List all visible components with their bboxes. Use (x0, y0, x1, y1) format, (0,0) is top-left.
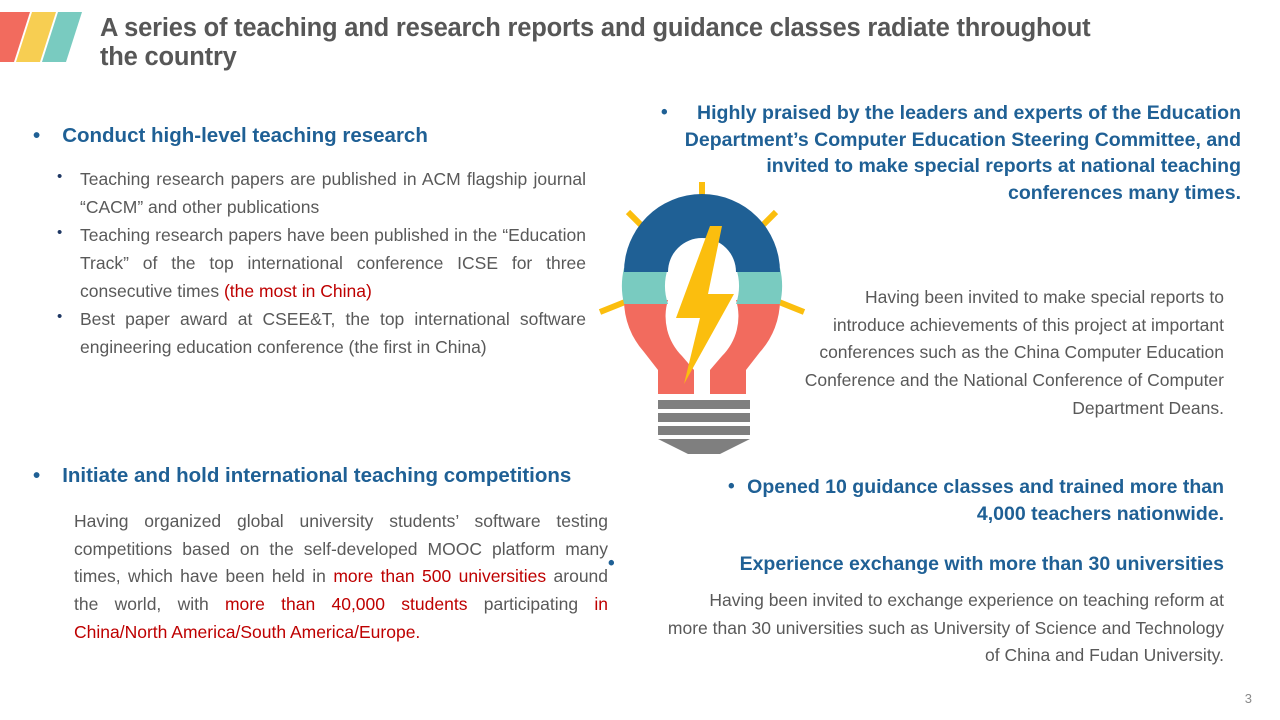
paragraph-text-normal: participating (467, 594, 594, 614)
lightbulb-illustration-icon (598, 172, 810, 454)
bullet-icon: • (33, 124, 40, 149)
list-item-text-normal: Best paper award at CSEE&T, the top inte… (80, 309, 586, 357)
bulb-base-icon (658, 400, 750, 454)
page-title: A series of teaching and research report… (100, 14, 1110, 72)
list-item: Teaching research papers are published i… (50, 166, 586, 221)
page-number: 3 (1245, 691, 1252, 706)
list-item: Teaching research papers have been publi… (50, 222, 586, 305)
bullet-icon: • (661, 100, 668, 126)
bullet-icon: • (608, 552, 615, 577)
right-paragraph-exchange: Having been invited to exchange experien… (666, 587, 1224, 670)
left-heading-conduct-research: •Conduct high-level teaching research (33, 124, 428, 149)
left-heading-competitions: •Initiate and hold international teachin… (33, 464, 571, 489)
left-heading-1-label: Conduct high-level teaching research (62, 124, 428, 147)
left-heading-2-label: Initiate and hold international teaching… (62, 464, 571, 487)
bulb-teal-left-segment (622, 268, 668, 304)
left-paragraph-competitions: Having organized global university stude… (74, 508, 608, 646)
right-heading-praised: •Highly praised by the leaders and exper… (655, 100, 1241, 206)
list-item-text-normal: Teaching research papers are published i… (80, 169, 586, 217)
right-heading-3-label: Experience exchange with more than 30 un… (740, 553, 1224, 575)
list-item-text-highlight: (the most in China) (224, 281, 372, 301)
right-heading-1-label: Highly praised by the leaders and expert… (685, 102, 1241, 204)
bulb-teal-right-segment (736, 268, 782, 304)
title-block: A series of teaching and research report… (100, 14, 1110, 72)
left-bullet-list: Teaching research papers are published i… (50, 166, 586, 362)
right-heading-guidance-classes: •Opened 10 guidance classes and trained … (714, 474, 1224, 528)
right-heading-2-label: Opened 10 guidance classes and trained m… (747, 476, 1224, 525)
bullet-icon: • (33, 464, 40, 489)
paragraph-text-highlight: more than 40,000 students (225, 594, 467, 614)
right-paragraph-special-reports: Having been invited to make special repo… (796, 284, 1224, 422)
right-heading-experience-exchange: •Experience exchange with more than 30 u… (600, 552, 1224, 577)
list-item: Best paper award at CSEE&T, the top inte… (50, 306, 586, 361)
three-stripe-logo-icon (0, 12, 92, 62)
paragraph-text-highlight: more than 500 universities (333, 566, 546, 586)
slide-canvas: A series of teaching and research report… (0, 0, 1280, 720)
bullet-icon: • (728, 474, 735, 500)
